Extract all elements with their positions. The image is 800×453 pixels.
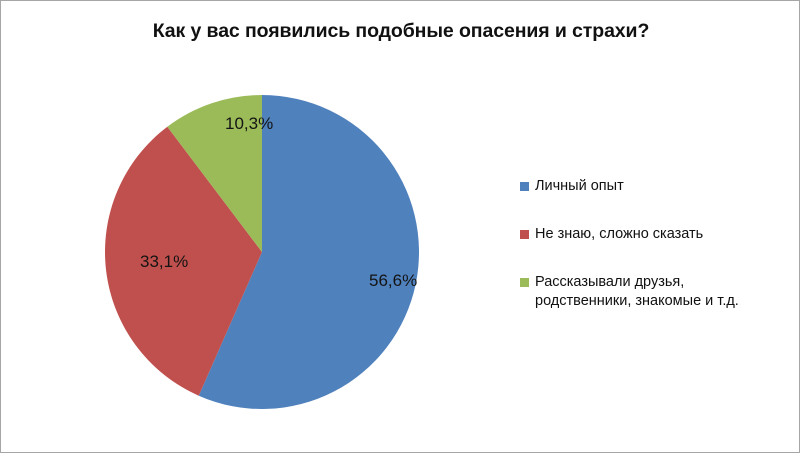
legend-item-label: Рассказывали друзья, родственники, знако… — [535, 273, 739, 311]
legend-item-label: Не знаю, сложно сказать — [535, 225, 703, 244]
pie-chart-container: Как у вас появились подобные опасения и … — [0, 0, 800, 453]
pie-slices — [105, 95, 419, 409]
chart-legend: Личный опыт Не знаю, сложно сказать Расс… — [520, 177, 795, 340]
plot-area: 56,6% 33,1% 10,3% — [105, 95, 419, 409]
legend-swatch-icon — [520, 278, 529, 287]
pie-svg — [105, 95, 419, 409]
legend-swatch-icon — [520, 182, 529, 191]
legend-item-label: Личный опыт — [535, 177, 624, 196]
legend-item-friends-relatives[interactable]: Рассказывали друзья, родственники, знако… — [520, 273, 795, 311]
chart-title: Как у вас появились подобные опасения и … — [1, 20, 800, 43]
legend-swatch-icon — [520, 230, 529, 239]
legend-item-dont-know[interactable]: Не знаю, сложно сказать — [520, 225, 795, 244]
legend-item-personal-experience[interactable]: Личный опыт — [520, 177, 795, 196]
